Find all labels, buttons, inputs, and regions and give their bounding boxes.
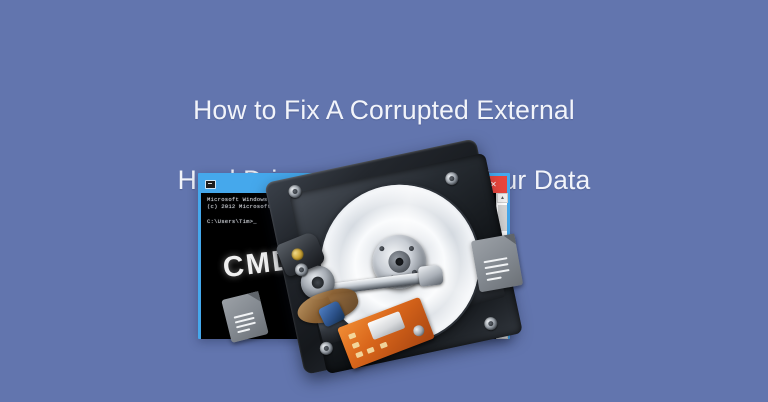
pcb-pad [348,332,356,339]
pcb-screw [412,324,426,338]
promo-banner: How to Fix A Corrupted External Hard Dri… [0,0,768,402]
document-fold-corner [247,291,260,304]
spindle-screw-hole [379,246,385,252]
read-write-head [418,264,444,286]
controller-chip [367,311,405,340]
document-text-line [237,328,250,333]
document-icon [471,234,523,293]
brass-screw [290,247,306,263]
document-fold-corner [503,234,516,247]
document-text-line [487,276,502,281]
pcb-pad [352,342,360,349]
page-title-line-1: How to Fix A Corrupted External [0,93,768,128]
document-text-line [486,269,510,275]
document-shape [471,234,523,293]
pcb-pad [380,342,388,349]
document-text-line [485,263,509,269]
spindle-screw-hole [408,246,414,252]
cmd-icon [205,180,216,189]
document-text-line [236,322,256,329]
pcb-pad [366,347,374,354]
pcb-pad [355,351,363,358]
document-text-line [484,257,508,263]
